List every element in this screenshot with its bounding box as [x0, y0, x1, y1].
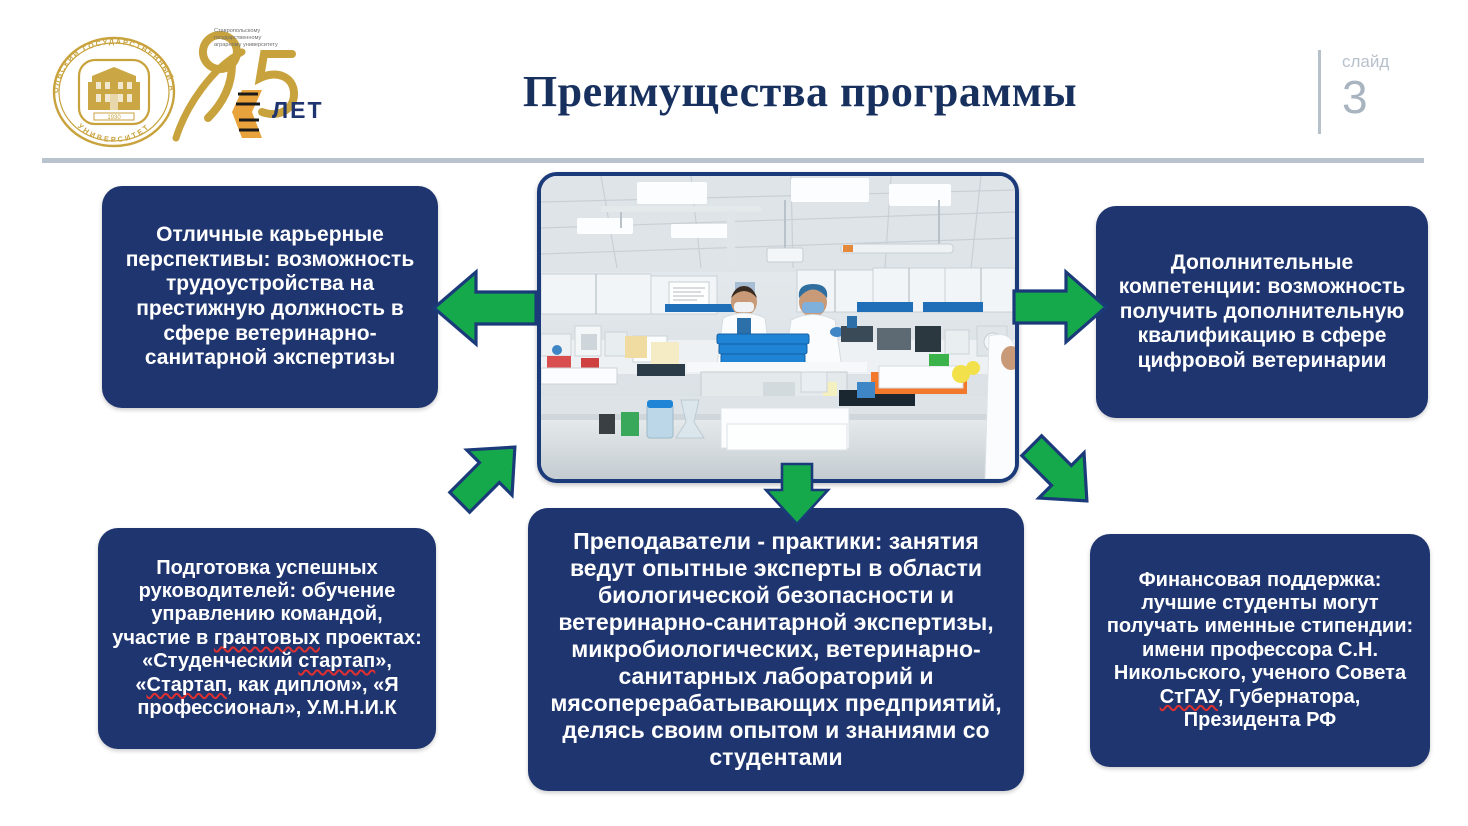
slide-number-value: 3 [1342, 74, 1432, 120]
slide-canvas: 1930 СТАВРОПОЛЬСКИЙ ГОСУДАРСТВЕННЫЙ АГРА… [0, 0, 1468, 826]
svg-text:государственному: государственному [214, 35, 261, 41]
spellcheck-word: СтГАУ [1160, 686, 1218, 708]
benefit-box-practitioners-text: Преподаватели - практики: занятия ведут … [542, 528, 1010, 770]
arrow-down-left-icon [432, 428, 544, 520]
spellcheck-word: стартап [298, 650, 375, 672]
svg-text:Ставропольскому: Ставропольскому [214, 28, 260, 34]
slide-number-block: слайд 3 [1318, 46, 1438, 146]
benefit-box-career-text: Отличные карьерные перспективы: возможно… [116, 223, 424, 370]
benefit-box-financial-support: Финансовая поддержка: лучшие студенты мо… [1090, 534, 1430, 767]
logo-year: 1930 [107, 115, 121, 121]
benefit-box-leadership: Подготовка успешных руководителей: обуче… [98, 528, 436, 749]
spellcheck-word: грантовых [214, 627, 320, 649]
slide-number-label: слайд [1342, 52, 1432, 72]
benefit-box-leadership-text: Подготовка успешных руководителей: обуче… [112, 557, 422, 721]
laboratory-photo [537, 172, 1019, 483]
university-logo: 1930 СТАВРОПОЛЬСКИЙ ГОСУДАРСТВЕННЫЙ АГРА… [36, 20, 336, 150]
svg-text:аграрному университету: аграрному университету [214, 42, 278, 48]
st-george-ribbon [232, 90, 262, 138]
benefit-box-competencies-text: Дополнительные компетенции: возможность … [1110, 251, 1414, 374]
benefit-box-career: Отличные карьерные перспективы: возможно… [102, 186, 438, 408]
benefit-box-practitioners: Преподаватели - практики: занятия ведут … [528, 508, 1024, 791]
arrow-down-icon [760, 462, 834, 526]
arrow-right-icon [1012, 268, 1108, 346]
spellcheck-word: Стартап [147, 674, 227, 696]
slide-number-divider [1318, 50, 1321, 134]
benefit-box-financial-support-text: Финансовая поддержка: лучшие студенты мо… [1104, 569, 1416, 733]
arrow-left-icon [432, 268, 538, 348]
logo-anniversary-word: ЛЕТ [272, 97, 324, 123]
page-title: Преимущества программы [420, 66, 1180, 117]
header-divider [42, 158, 1424, 163]
arrow-down-right-icon [1004, 428, 1116, 520]
logo-dedication: Ставропольскому государственному аграрно… [214, 28, 278, 48]
benefit-box-competencies: Дополнительные компетенции: возможность … [1096, 206, 1428, 418]
